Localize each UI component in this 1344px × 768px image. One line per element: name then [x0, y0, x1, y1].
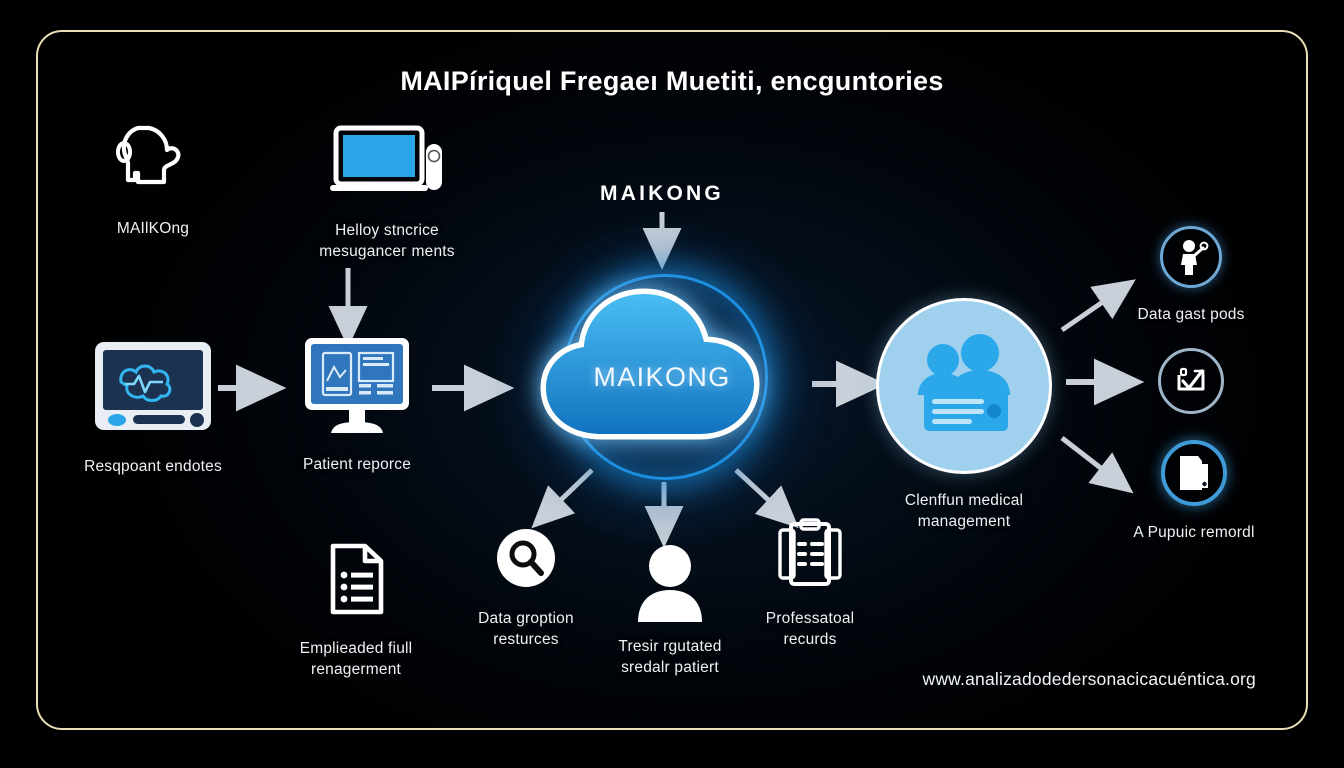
head-profile-icon	[116, 118, 190, 192]
node-laptop[interactable]: Helloy stncrice mesuganceг ments	[292, 122, 482, 262]
node-out-bottom[interactable]: A Pupuic remordl	[1128, 440, 1260, 543]
diagram-canvas: MAIPíriquel Fregaeı Muetiti, encguntorie…	[0, 0, 1344, 768]
node-search[interactable]: Data groption resturces	[462, 528, 590, 650]
node-search-label: Data groption resturces	[478, 608, 574, 650]
monitor-report-icon	[293, 336, 421, 436]
people-id-card-icon	[906, 333, 1022, 439]
document-circle-icon	[1161, 440, 1227, 506]
node-document[interactable]: Emplieaded fiull renagerment	[276, 542, 436, 680]
person-icon	[632, 544, 708, 622]
document-list-icon	[325, 542, 387, 616]
growth-chart-circle-icon	[1158, 348, 1224, 414]
clipboard-records-icon	[777, 518, 843, 590]
footer-url[interactable]: www.analizadodedersonacicacuéntica.org	[923, 669, 1257, 690]
node-monitor-left-label: Resqpoant endotes	[84, 456, 222, 477]
node-clipboard[interactable]: Professatoal recurds	[742, 518, 878, 650]
node-out-top-label: Data gast pods	[1137, 304, 1244, 325]
monitor-pulse-icon	[91, 338, 215, 434]
node-out-top[interactable]: Data gast pods	[1128, 226, 1254, 325]
node-laptop-label: Helloy stncrice mesuganceг ments	[319, 220, 455, 262]
node-out-mid[interactable]	[1128, 348, 1254, 430]
node-people-card[interactable]: Clenffun medical management	[878, 298, 1050, 532]
document-glyph	[1177, 454, 1211, 492]
person-activity-glyph	[1172, 238, 1210, 276]
node-monitor-left[interactable]: Resqpoant endotes	[78, 338, 228, 477]
people-circle	[876, 298, 1052, 474]
center-top-label: MAIKONG	[528, 182, 796, 206]
node-monitor-right-label: Patient reporce	[303, 454, 411, 475]
center-cloud-node[interactable]: MAIKONG	[528, 248, 796, 516]
search-circle-icon	[496, 528, 556, 588]
page-title: MAIPíriquel Fregaeı Muetiti, encguntorie…	[0, 66, 1344, 97]
node-clipboard-label: Professatoal recurds	[766, 608, 855, 650]
node-person[interactable]: Tresir rgutated sredalr patiert	[600, 544, 740, 678]
person-activity-circle-icon	[1160, 226, 1222, 288]
cloud-label: MAIKONG	[528, 362, 796, 393]
node-head[interactable]: MAIlKOng	[92, 118, 214, 239]
node-out-bottom-label: A Pupuic remordl	[1133, 522, 1254, 543]
node-document-label: Emplieaded fiull renagerment	[300, 638, 413, 680]
node-head-label: MAIlKOng	[117, 218, 189, 239]
growth-chart-glyph	[1173, 363, 1209, 399]
laptop-screen-icon	[328, 122, 446, 196]
node-monitor-right[interactable]: Patient reporce	[282, 336, 432, 475]
node-person-label: Tresir rgutated sredalr patiert	[618, 636, 721, 678]
node-people-card-label: Clenffun medical management	[905, 490, 1023, 532]
